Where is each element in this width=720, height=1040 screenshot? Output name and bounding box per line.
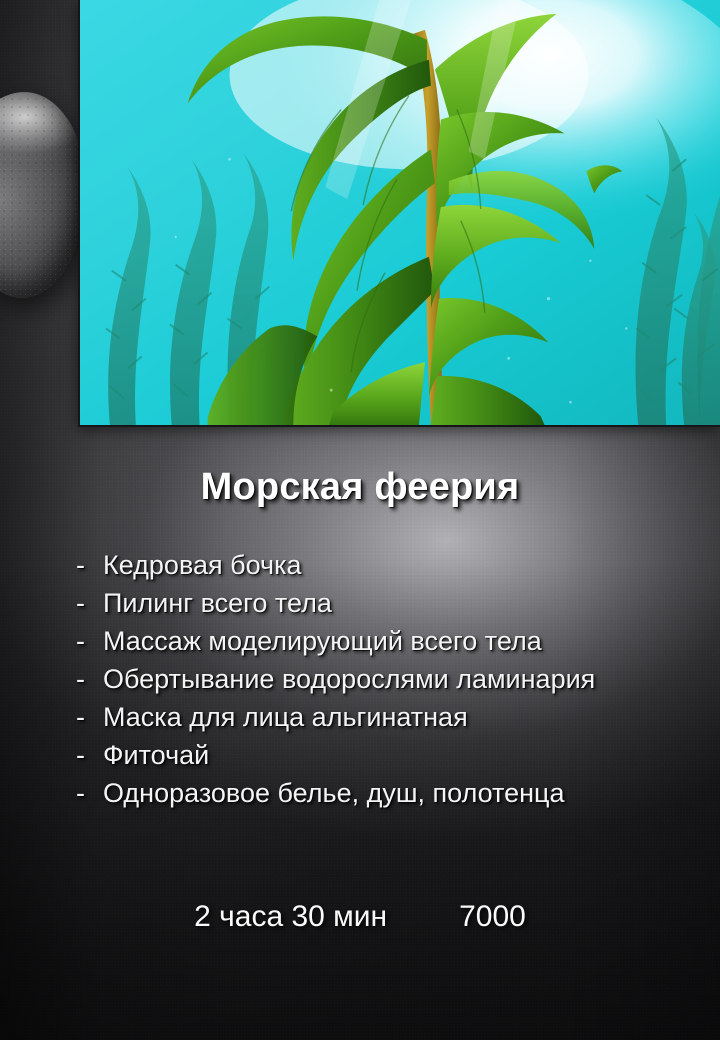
bullet-dash-icon: -: [76, 626, 103, 656]
bullet-dash-icon: -: [76, 588, 103, 618]
bullet-dash-icon: -: [76, 740, 103, 770]
duration-text: 2 часа 30 мин: [194, 900, 387, 934]
bullet-dash-icon: -: [76, 664, 103, 694]
page-title: Морская феерия: [0, 466, 720, 509]
list-item: - Массаж моделирующий всего тела: [76, 626, 716, 664]
list-item: - Обертывание водорослями ламинария: [76, 664, 716, 702]
list-item: - Одноразовое белье, душ, полотенца: [76, 778, 716, 816]
list-item: - Маска для лица альгинатная: [76, 702, 716, 740]
service-label: Фиточай: [103, 740, 209, 770]
kelp-illustration: [80, 0, 720, 425]
list-item: - Кедровая бочка: [76, 550, 716, 588]
footer: 2 часа 30 мин 7000: [0, 900, 720, 934]
underwater-kelp-photo: [78, 0, 720, 427]
price-text: 7000: [459, 900, 526, 934]
service-label: Массаж моделирующий всего тела: [103, 626, 542, 656]
service-label: Одноразовое белье, душ, полотенца: [103, 778, 565, 808]
service-label: Кедровая бочка: [103, 550, 302, 580]
spa-service-slide: Морская феерия - Кедровая бочка - Пилинг…: [0, 0, 720, 1040]
bullet-dash-icon: -: [76, 550, 103, 580]
service-list: - Кедровая бочка - Пилинг всего тела - М…: [76, 550, 716, 816]
bullet-dash-icon: -: [76, 702, 103, 732]
list-item: - Фиточай: [76, 740, 716, 778]
service-label: Маска для лица альгинатная: [103, 702, 468, 732]
service-label: Пилинг всего тела: [103, 588, 332, 618]
list-item: - Пилинг всего тела: [76, 588, 716, 626]
bullet-dash-icon: -: [76, 778, 103, 808]
service-label: Обертывание водорослями ламинария: [103, 664, 595, 694]
